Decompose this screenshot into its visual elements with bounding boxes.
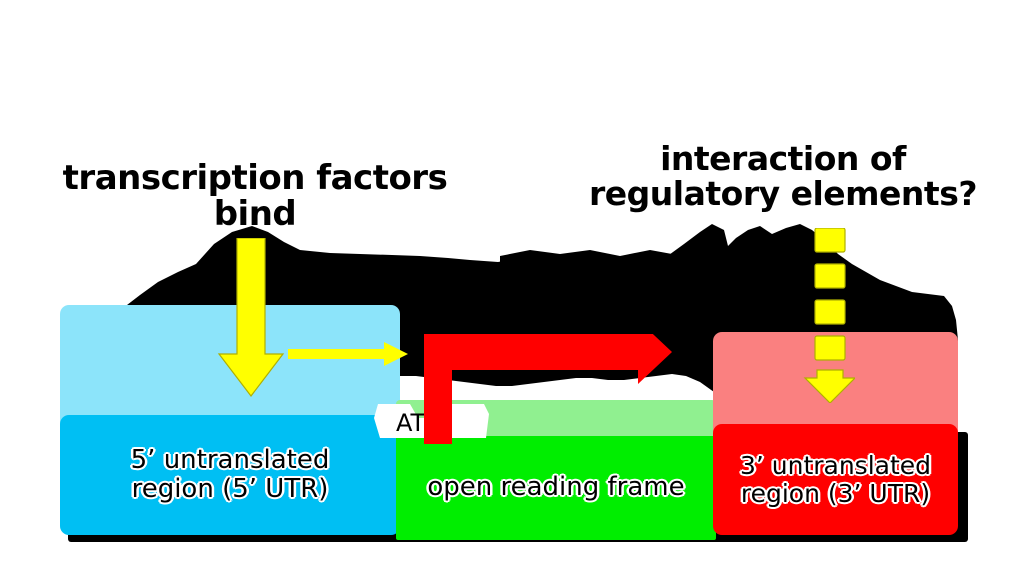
heading-regulatory-elements: interaction of regulatory elements? xyxy=(548,142,1018,212)
region-label-5utr: 5’ untranslated region (5’ UTR) xyxy=(131,446,330,504)
region-box-3utr-front-face: 3’ untranslated region (3’ UTR) xyxy=(713,424,958,535)
region-box-orf-front-face: open reading frame xyxy=(396,436,716,540)
transcription-initiation-arrow xyxy=(288,341,408,367)
translation-start-arrow xyxy=(410,334,672,444)
region-box-5utr-front-face: 5’ untranslated region (5’ UTR) xyxy=(60,415,400,535)
region-label-orf: open reading frame xyxy=(427,473,684,502)
heading-transcription-factors: transcription factors bind xyxy=(35,160,475,232)
gene-structure-diagram: 5’ untranslated region (5’ UTR) open rea… xyxy=(0,0,1024,576)
transcription-factor-binding-arrow xyxy=(215,238,287,398)
region-label-3utr: 3’ untranslated region (3’ UTR) xyxy=(740,452,931,508)
regulatory-interaction-arrow xyxy=(803,228,855,403)
